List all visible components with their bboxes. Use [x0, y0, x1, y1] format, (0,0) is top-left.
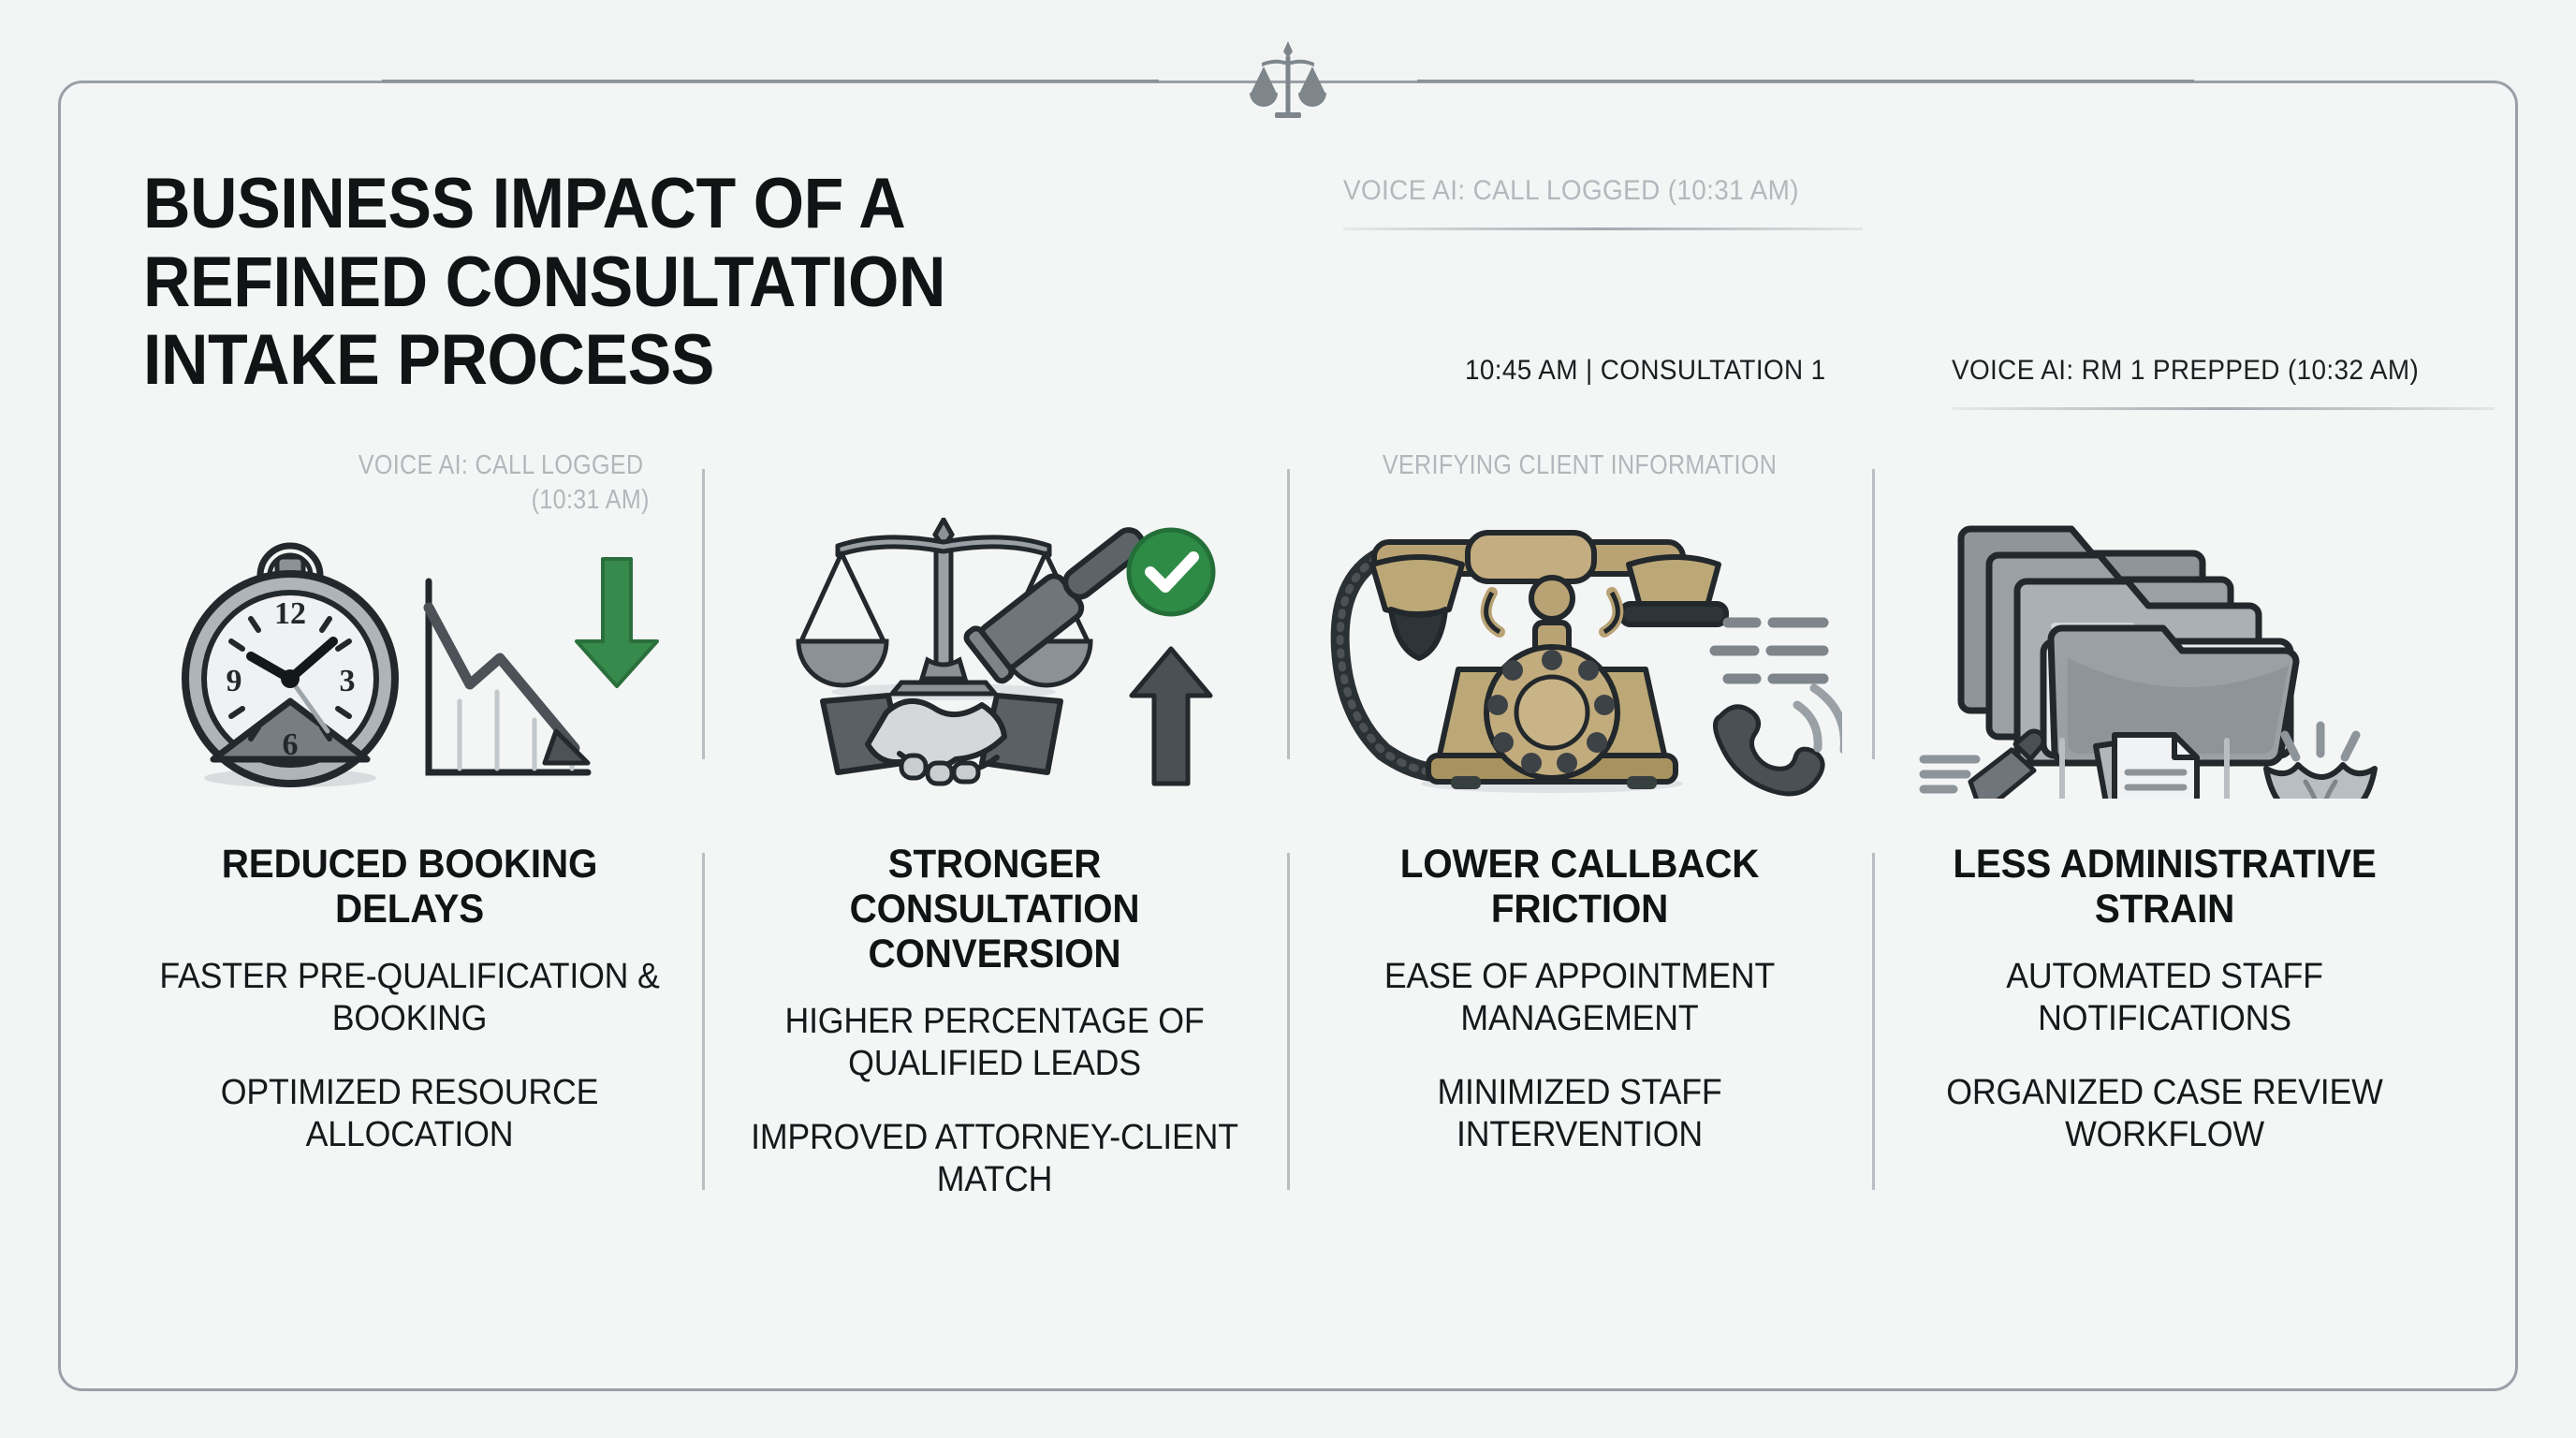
column-stronger-consultation-conversion: STRONGER CONSULTATION CONVERSION HIGHER … — [702, 448, 1287, 1347]
svg-text:12: 12 — [274, 596, 306, 631]
svg-text:6: 6 — [282, 727, 298, 762]
column-title: REDUCED BOOKING DELAYS — [154, 842, 665, 932]
column-benefit-2: MINIMIZED STAFF INTERVENTION — [1324, 1072, 1835, 1156]
column-lower-callback-friction: VERIFYING CLIENT INFORMATION — [1287, 448, 1872, 1347]
header-rule-left — [382, 80, 1159, 82]
column-note-line-2: (10:31 AM) — [532, 483, 650, 518]
column-title: LESS ADMINISTRATIVE STRAIN — [1909, 842, 2420, 932]
column-benefit-2: ORGANIZED CASE REVIEW WORKFLOW — [1909, 1072, 2420, 1156]
note-underline — [1343, 227, 1863, 230]
infographic-panel: BUSINESS IMPACT OF A REFINED CONSULTATIO… — [58, 81, 2518, 1391]
benefit-columns: VOICE AI: CALL LOGGED (10:31 AM) — [117, 448, 2457, 1347]
column-benefit-1: EASE OF APPOINTMENT MANAGEMENT — [1324, 956, 1835, 1040]
header-band — [61, 29, 2515, 132]
note-underline — [1952, 407, 2495, 410]
column-artwork: 12 3 6 9 — [138, 518, 681, 799]
column-artwork — [1893, 518, 2437, 799]
page-title-line-2: REFINED CONSULTATION — [143, 246, 1134, 319]
column-reduced-booking-delays: VOICE AI: CALL LOGGED (10:31 AM) — [117, 448, 702, 1347]
scales-of-justice-icon — [1243, 36, 1333, 125]
page-title: BUSINESS IMPACT OF A REFINED CONSULTATIO… — [143, 168, 1220, 403]
column-artwork — [723, 518, 1266, 799]
page-title-line-1: BUSINESS IMPACT OF A — [143, 168, 1134, 241]
note-consultation-time-text: 10:45 AM | CONSULTATION 1 — [1465, 355, 1826, 387]
column-benefit-1: HIGHER PERCENTAGE OF QUALIFIED LEADS — [739, 1001, 1250, 1085]
note-call-logged-top-text: VOICE AI: CALL LOGGED (10:31 AM) — [1343, 175, 1799, 207]
column-benefit-1: FASTER PRE-QUALIFICATION & BOOKING — [154, 956, 665, 1040]
note-room-prepped: VOICE AI: RM 1 PREPPED (10:32 AM) — [1952, 355, 2495, 410]
note-room-prepped-text: VOICE AI: RM 1 PREPPED (10:32 AM) — [1952, 355, 2419, 387]
note-consultation-time: 10:45 AM | CONSULTATION 1 — [1465, 355, 1853, 387]
note-call-logged-top: VOICE AI: CALL LOGGED (10:31 AM) — [1343, 175, 1863, 230]
column-benefit-2: OPTIMIZED RESOURCE ALLOCATION — [154, 1072, 665, 1156]
column-note-line-1: VERIFYING CLIENT INFORMATION — [1383, 448, 1777, 483]
column-benefit-1: AUTOMATED STAFF NOTIFICATIONS — [1909, 956, 2420, 1040]
column-artwork — [1308, 518, 1851, 799]
page-title-line-3: INTAKE PROCESS — [143, 324, 1134, 397]
header-rule-right — [1417, 80, 2194, 82]
svg-text:3: 3 — [339, 664, 355, 698]
column-note-line-1: VOICE AI: CALL LOGGED — [359, 448, 644, 483]
column-title: STRONGER CONSULTATION CONVERSION — [739, 842, 1250, 976]
svg-text:9: 9 — [226, 664, 241, 698]
column-benefit-2: IMPROVED ATTORNEY-CLIENT MATCH — [739, 1117, 1250, 1201]
column-title: LOWER CALLBACK FRICTION — [1324, 842, 1835, 932]
column-less-administrative-strain: LESS ADMINISTRATIVE STRAIN AUTOMATED STA… — [1872, 448, 2457, 1347]
